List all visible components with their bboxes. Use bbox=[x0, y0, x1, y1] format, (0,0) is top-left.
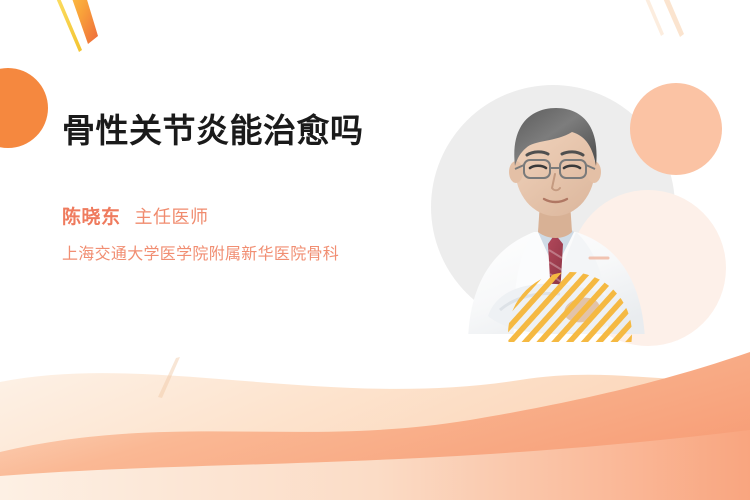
doctor-intro-card: 骨性关节炎能治愈吗 陈晓东 主任医师 上海交通大学医学院附属新华医院骨科 bbox=[0, 0, 750, 500]
doctor-ear-right bbox=[587, 161, 601, 183]
doctor-rank: 主任医师 bbox=[135, 203, 209, 229]
top-right-stripes bbox=[637, 0, 684, 37]
doctor-portrait bbox=[430, 82, 680, 342]
doctor-identity-line: 陈晓东 主任医师 bbox=[62, 202, 412, 229]
doctor-name: 陈晓东 bbox=[62, 202, 121, 229]
text-column: 骨性关节炎能治愈吗 陈晓东 主任医师 上海交通大学医学院附属新华医院骨科 bbox=[62, 110, 412, 266]
page-title: 骨性关节炎能治愈吗 bbox=[62, 110, 402, 152]
left-orange-circle bbox=[0, 68, 48, 148]
bottom-waves bbox=[0, 352, 750, 500]
doctor-affiliation: 上海交通大学医学院附属新华医院骨科 bbox=[62, 243, 407, 266]
doctor-ear-left bbox=[509, 161, 523, 183]
doctor-portrait-svg bbox=[430, 82, 680, 342]
